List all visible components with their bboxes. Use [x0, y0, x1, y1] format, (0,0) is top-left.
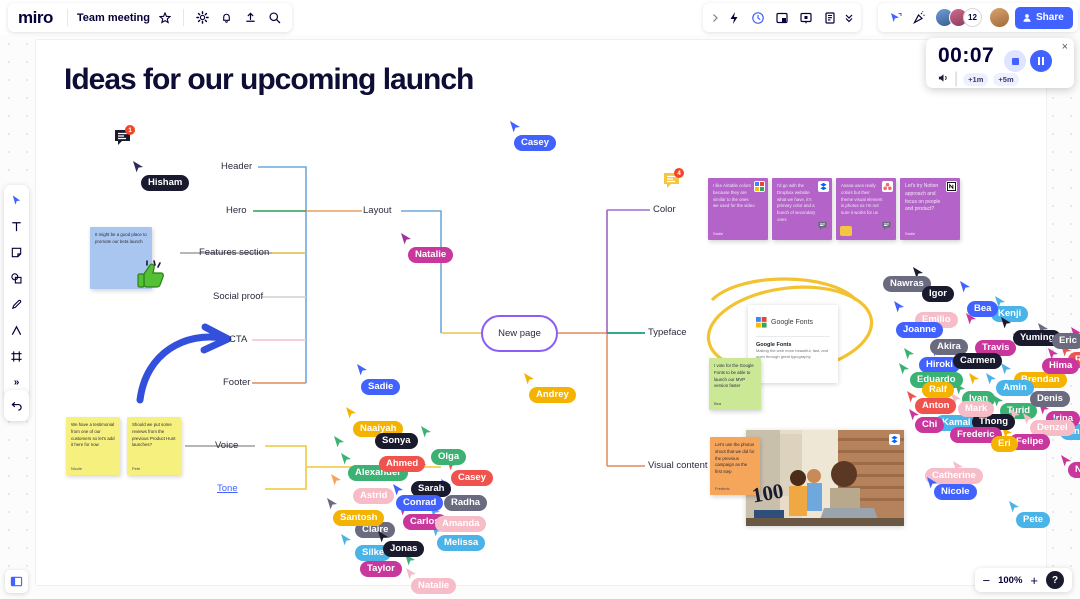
add-5m-button[interactable]: +5m — [993, 73, 1018, 86]
mm-visual[interactable]: Visual content — [648, 460, 708, 471]
google-fonts-title-row: Google Fonts — [756, 317, 830, 328]
sticky-note-purple-4[interactable]: Let's try Notion approach and focus on p… — [900, 178, 960, 240]
present-icon[interactable] — [794, 6, 818, 30]
mm-tone[interactable]: Tone — [217, 483, 238, 494]
sticky-author: Sadie — [905, 231, 915, 236]
sticky-text: I vote for the Google Fonts to be able t… — [714, 363, 756, 390]
google-fonts-body: Making the web more beautiful, fast, and… — [756, 348, 830, 360]
sticky-text: I like Airtable colors because they are … — [713, 183, 755, 210]
cursor-name-label: Anton — [915, 398, 956, 414]
cursor-name-label: Bea — [967, 301, 998, 317]
sticky-author: Sadie — [713, 231, 723, 236]
mm-footer[interactable]: Footer — [223, 377, 250, 388]
mm-typeface[interactable]: Typeface — [648, 327, 687, 338]
connector-tool[interactable] — [6, 320, 27, 341]
cursor-name-label: Sonya — [375, 433, 418, 449]
board-name[interactable]: Team meeting — [74, 12, 153, 24]
frame-tool[interactable] — [6, 346, 27, 367]
google-icon — [756, 317, 767, 328]
reaction-badge[interactable] — [840, 226, 852, 236]
search-icon[interactable] — [262, 6, 286, 30]
cursor-name-label: Pete — [1016, 512, 1050, 528]
cursor-name-label: Sadie — [361, 379, 400, 395]
sticky-author: Bea — [714, 401, 721, 406]
sticky-text: We have a testimonial from one of our cu… — [71, 422, 115, 449]
cursor-name-label: Denis — [1030, 391, 1070, 407]
reaction-icon[interactable] — [754, 181, 765, 192]
timer-controls-row: | +1m +5m — [938, 70, 1019, 88]
left-toolbar: » — [4, 185, 29, 398]
sticky-text: I'd go with the Dropbox website what we … — [777, 183, 819, 224]
sticky-note-purple-1[interactable]: I like Airtable colors because they are … — [708, 178, 768, 240]
cursor-name-label: Nina — [1068, 462, 1080, 478]
top-bar: miro Team meeting — [0, 0, 1080, 35]
cursor-name-label: Casey — [451, 470, 493, 486]
miro-logo[interactable]: miro — [14, 8, 61, 28]
mm-voice[interactable]: Voice — [215, 440, 238, 451]
cursor-name-label: Nicole — [934, 484, 977, 500]
more-down-icon[interactable] — [842, 6, 856, 30]
mm-social[interactable]: Social proof — [213, 291, 263, 302]
timer-pause-button[interactable] — [1030, 50, 1052, 72]
timer-icon[interactable] — [746, 6, 770, 30]
cursor-name-label: Igor — [922, 286, 954, 302]
timer-time: 00:07 — [938, 44, 994, 68]
sticky-note-purple-3[interactable]: Asana uses really colors but their theme… — [836, 178, 896, 240]
comment-bubble-icon[interactable] — [881, 221, 892, 231]
timer-widget[interactable]: 00:07 | +1m +5m × — [926, 38, 1074, 88]
undo-icon[interactable] — [6, 395, 27, 416]
top-bar-left-group: miro Team meeting — [8, 3, 292, 32]
cursor-name-label: Eri — [991, 436, 1018, 452]
star-icon[interactable] — [153, 6, 177, 30]
page-title: Ideas for our upcoming launch — [64, 63, 473, 97]
gear-icon[interactable] — [190, 6, 214, 30]
dropbox-reaction-icon[interactable] — [889, 434, 900, 445]
timer-close-button[interactable]: × — [1062, 41, 1068, 53]
help-button[interactable]: ? — [1046, 571, 1064, 589]
zoom-controls: − 100% + ? — [975, 568, 1073, 592]
cursor-name-label: Casey — [514, 135, 556, 151]
sticky-text: Let's use the photos shoot that we did f… — [715, 442, 755, 476]
volume-icon[interactable] — [938, 70, 949, 88]
dropbox-icon[interactable] — [818, 181, 829, 192]
chevron-right-icon[interactable] — [708, 6, 722, 30]
cursor-name-label: Amin — [996, 380, 1034, 396]
asana-icon[interactable] — [882, 181, 893, 192]
collaborator-avatars[interactable]: 12 — [935, 8, 982, 27]
top-bar-right-group: 12 Share — [878, 3, 1078, 32]
miro-app: Ideas for our upcoming launch Header Her… — [0, 0, 1080, 599]
cursor-name-label: Hisham — [141, 175, 189, 191]
panel-toggle-icon[interactable] — [5, 570, 28, 593]
person-icon — [1022, 13, 1032, 23]
cursor-name-label: Jonas — [383, 541, 424, 557]
pin-badge-count: 4 — [674, 168, 684, 178]
cursor-name-label: Joanne — [896, 322, 943, 338]
sticky-text: Should we put some reviews from the prev… — [132, 422, 176, 449]
mm-hero[interactable]: Hero — [226, 205, 247, 216]
sticky-note-tool[interactable] — [6, 242, 27, 263]
share-button-label: Share — [1036, 12, 1064, 23]
cursor-name-label: Astrid — [353, 488, 394, 504]
sticky-author: Nicole — [71, 466, 82, 471]
cursor-name-label: Chi — [915, 417, 944, 433]
mm-layout[interactable]: Layout — [363, 205, 392, 216]
team-photo-card[interactable] — [746, 430, 904, 526]
undo-toolbar — [4, 390, 29, 421]
select-tool[interactable] — [6, 190, 27, 211]
cursor-name-label: Amanda — [435, 516, 486, 532]
comment-pin-color[interactable]: 4 — [663, 172, 681, 189]
cursor-name-label: Natalie — [411, 578, 456, 594]
cursor-name-label: Santosh — [333, 510, 384, 526]
top-bar-mid-group — [703, 3, 861, 32]
avatar-overflow-count[interactable]: 12 — [963, 8, 982, 27]
cursor-name-label: Hima — [1042, 358, 1079, 374]
mm-features[interactable]: Features section — [199, 247, 269, 258]
sticky-text: Asana uses really colors but their theme… — [841, 183, 883, 217]
cursor-share-icon[interactable] — [883, 6, 907, 30]
pen-tool[interactable] — [6, 294, 27, 315]
sticky-note-yellow-2[interactable]: Should we put some reviews from the prev… — [127, 417, 181, 475]
zoom-out-button[interactable]: − — [983, 574, 991, 587]
sticky-note-green[interactable]: I vote for the Google Fonts to be able t… — [709, 358, 761, 410]
cursor-name-label: Conrad — [396, 495, 443, 511]
timer-stop-button[interactable] — [1004, 50, 1026, 72]
thumbs-up-sticker — [134, 258, 168, 292]
share-button[interactable]: Share — [1015, 7, 1073, 29]
mm-color[interactable]: Color — [653, 204, 676, 215]
add-1m-button[interactable]: +1m — [963, 73, 988, 86]
pin-badge-count: 1 — [125, 125, 135, 135]
lightning-icon[interactable] — [722, 6, 746, 30]
current-user-avatar[interactable] — [989, 7, 1010, 28]
sticky-note-yellow-1[interactable]: We have a testimonial from one of our cu… — [66, 417, 120, 475]
zoom-in-button[interactable]: + — [1030, 574, 1038, 587]
cursor-name-label: Andrey — [529, 387, 576, 403]
divider — [67, 9, 68, 26]
cursor-name-label: Ralf — [922, 382, 954, 398]
cursor-name-label: Olga — [431, 449, 466, 465]
cursor-name-label: Melissa — [437, 535, 485, 551]
cursor-name-label: Carmen — [953, 353, 1002, 369]
comment-bubble-icon[interactable] — [817, 221, 828, 231]
cursor-name-label: Ahmed — [379, 456, 425, 472]
shapes-tool[interactable] — [6, 268, 27, 289]
celebrate-icon[interactable] — [907, 6, 931, 30]
sticky-author: Frederic — [715, 486, 730, 491]
notes-icon[interactable] — [818, 6, 842, 30]
sticky-author: Pete — [132, 466, 140, 471]
screenshare-icon[interactable] — [770, 6, 794, 30]
bell-icon[interactable] — [214, 6, 238, 30]
text-tool[interactable] — [6, 216, 27, 237]
cursor-name-label: Taylor — [360, 561, 402, 577]
central-node[interactable]: New page — [481, 315, 558, 352]
team-photo — [746, 430, 904, 526]
mm-header[interactable]: Header — [221, 161, 252, 172]
cursor-name-label: Eric — [1052, 333, 1080, 349]
upload-icon[interactable] — [238, 6, 262, 30]
google-fonts-card[interactable]: Google Fonts Google Fonts Making the web… — [748, 305, 838, 383]
sticky-text: It might be a good place to promote our … — [95, 232, 147, 246]
comment-pin-left[interactable]: 1 — [114, 129, 132, 146]
sticky-note-purple-2[interactable]: I'd go with the Dropbox website what we … — [772, 178, 832, 240]
divider — [183, 9, 184, 26]
sticky-text: Let's try Notion approach and focus on p… — [905, 183, 947, 214]
notion-icon[interactable] — [946, 181, 957, 192]
cursor-name-label: Mark — [958, 401, 994, 417]
cursor-name-label: Natalie — [408, 247, 453, 263]
zoom-level[interactable]: 100% — [998, 575, 1022, 586]
mm-cta[interactable]: CTA — [229, 334, 247, 345]
cursor-name-label: Radha — [444, 495, 487, 511]
google-fonts-title: Google Fonts — [771, 319, 813, 326]
